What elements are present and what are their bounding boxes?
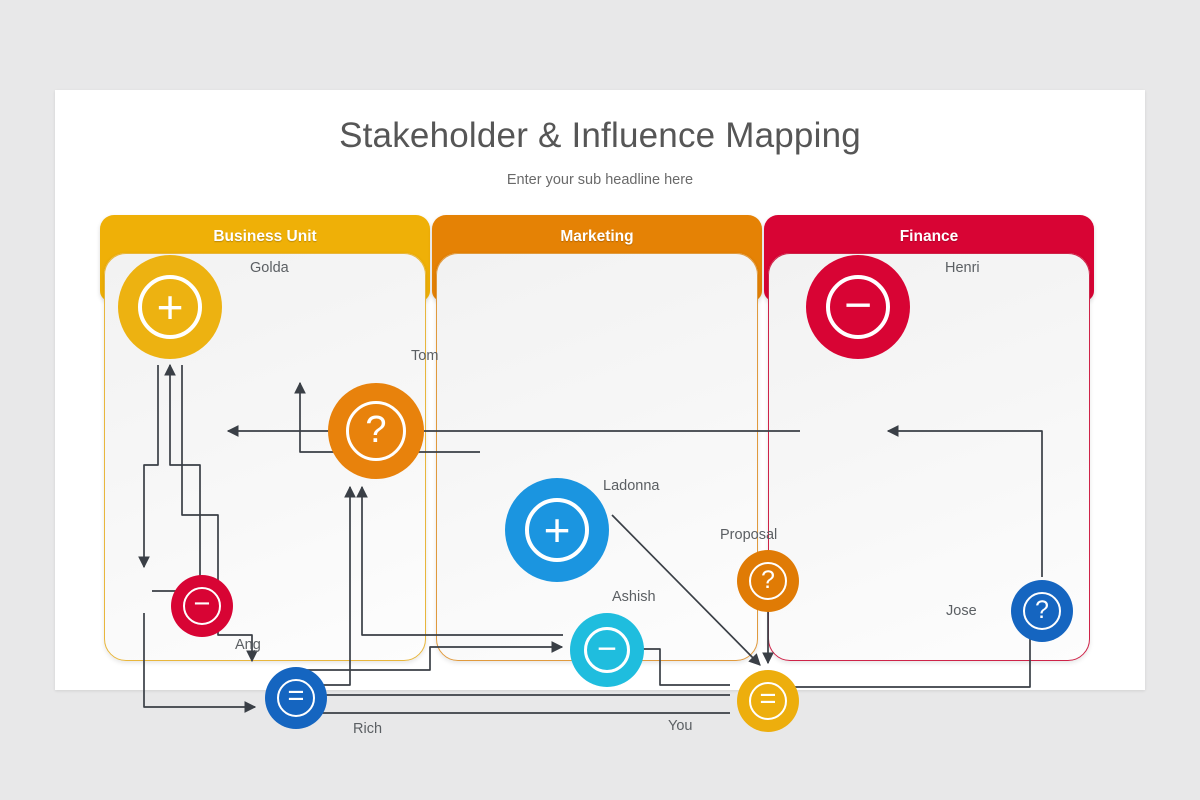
question-icon-ring: ? (749, 562, 787, 600)
question-icon-ring: ? (346, 401, 406, 461)
node-label-golda: Golda (250, 260, 289, 276)
page-subtitle: Enter your sub headline here (55, 172, 1145, 188)
node-label-you: You (668, 718, 692, 734)
node-golda[interactable]: + (118, 255, 222, 359)
plus-icon: + (157, 284, 184, 330)
node-jose[interactable]: ? (1011, 580, 1073, 642)
node-label-henri: Henri (945, 260, 980, 276)
minus-icon: − (194, 590, 211, 619)
slide-canvas: Stakeholder & Influence Mapping Enter yo… (55, 90, 1145, 690)
node-ashish[interactable]: − (570, 613, 644, 687)
question-icon: ? (761, 568, 775, 593)
node-label-ashish: Ashish (612, 589, 656, 605)
node-label-tom: Tom (411, 348, 438, 364)
plus-icon-ring: + (525, 498, 589, 562)
equals-icon-ring: = (749, 682, 787, 720)
minus-icon: − (597, 632, 617, 666)
minus-icon-ring: − (584, 627, 630, 673)
question-icon: ? (365, 411, 386, 449)
node-ang[interactable]: − (171, 575, 233, 637)
connector-rich-to-ashish (300, 647, 562, 670)
connector-ang-to-golda (152, 365, 200, 591)
node-proposal[interactable]: ? (737, 550, 799, 612)
equals-icon: = (288, 682, 305, 711)
question-icon-ring: ? (1023, 592, 1061, 630)
minus-icon: − (844, 282, 872, 330)
node-label-ang: Ang (235, 637, 261, 653)
node-you[interactable]: = (737, 670, 799, 732)
connector-jose-to-henri (888, 431, 1042, 577)
stakeholder-board: Business Unit Marketing Finance (100, 215, 1105, 665)
minus-icon-ring: − (826, 275, 890, 339)
node-rich[interactable]: = (265, 667, 327, 729)
node-ladonna[interactable]: + (505, 478, 609, 582)
question-icon: ? (1035, 598, 1049, 623)
minus-icon-ring: − (183, 587, 221, 625)
node-tom[interactable]: ? (328, 383, 424, 479)
plus-icon-ring: + (138, 275, 202, 339)
connector-you-to-jose (776, 617, 1030, 687)
connector-layer (100, 215, 1105, 665)
connector-rich-to-tom (288, 487, 350, 685)
page-title: Stakeholder & Influence Mapping (55, 116, 1145, 156)
connector-golda-to-ang (144, 365, 158, 567)
plus-icon: + (544, 507, 571, 553)
node-label-rich: Rich (353, 721, 382, 737)
equals-icon: = (760, 685, 777, 714)
node-label-jose: Jose (946, 603, 977, 619)
node-henri[interactable]: − (806, 255, 910, 359)
node-label-proposal: Proposal (720, 527, 777, 543)
node-label-ladonna: Ladonna (603, 478, 659, 494)
equals-icon-ring: = (277, 679, 315, 717)
